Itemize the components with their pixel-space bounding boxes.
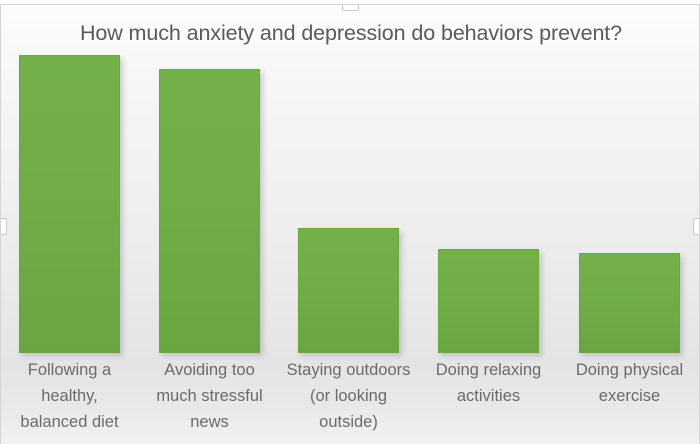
- category-label-2: Staying outdoors (or looking outside): [279, 357, 418, 435]
- resize-handle-left-icon[interactable]: [0, 218, 7, 235]
- bar-doing-physical-exercise[interactable]: [579, 253, 680, 353]
- bar-group-1[interactable]: [159, 69, 260, 353]
- chart-object-frame[interactable]: How much anxiety and depression do behav…: [0, 4, 700, 444]
- bar-group-3[interactable]: [438, 249, 539, 353]
- plot-area: [1, 5, 700, 353]
- category-label-1: Avoiding too much stressful news: [143, 357, 276, 435]
- bar-doing-relaxing-activities[interactable]: [438, 249, 539, 353]
- bar-following-a-healthy-balanced-diet[interactable]: [19, 55, 120, 353]
- bar-avoiding-too-much-stressful-news[interactable]: [159, 69, 260, 353]
- bar-group-0[interactable]: [19, 55, 120, 353]
- bar-group-2[interactable]: [298, 228, 399, 353]
- bar-staying-outdoors[interactable]: [298, 228, 399, 353]
- category-axis[interactable]: Following a healthy, balanced diet Avoid…: [1, 357, 700, 444]
- category-label-0: Following a healthy, balanced diet: [9, 357, 130, 435]
- category-label-3: Doing relaxing activities: [422, 357, 555, 409]
- category-label-4: Doing physical exercise: [563, 357, 696, 409]
- resize-handle-top-icon[interactable]: [342, 4, 359, 11]
- resize-handle-right-icon[interactable]: [693, 218, 700, 235]
- bar-group-4[interactable]: [579, 253, 680, 353]
